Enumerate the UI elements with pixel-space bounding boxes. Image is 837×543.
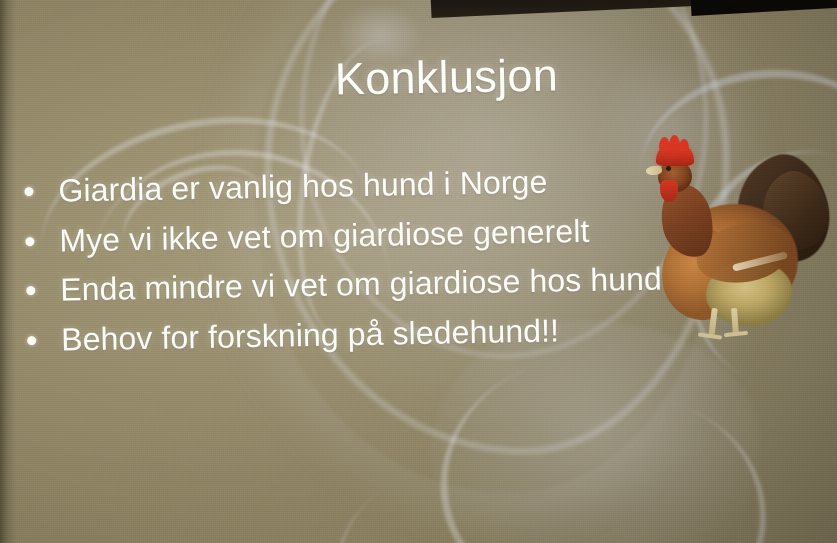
bullet-text: Giardia er vanlig hos hund i Norge [58, 161, 548, 213]
bullet-list: Giardia er vanlig hos hund i Norge Mye v… [24, 157, 728, 368]
bullet-dot-icon [27, 336, 36, 345]
bullet-text: Mye vi ikke vet om giardiose generelt [59, 209, 590, 261]
bullet-item: Giardia er vanlig hos hund i Norge [24, 157, 725, 212]
bullet-item: Enda mindre vi vet om giardiose hos hund [26, 256, 727, 311]
slide-text-layer: Konklusjon Giardia er vanlig hos hund i … [0, 0, 837, 543]
bullet-dot-icon [24, 187, 33, 196]
bullet-item: Behov for forskning på sledehund!! [27, 306, 728, 361]
projected-slide-photo: Konklusjon Giardia er vanlig hos hund i … [0, 0, 837, 543]
bullet-text: Behov for forskning på sledehund!! [61, 309, 560, 361]
bullet-item: Mye vi ikke vet om giardiose generelt [25, 207, 726, 262]
bullet-dot-icon [25, 237, 34, 246]
slide-title: Konklusjon [0, 43, 837, 111]
bullet-dot-icon [26, 286, 35, 295]
bullet-text: Enda mindre vi vet om giardiose hos hund [60, 258, 662, 312]
